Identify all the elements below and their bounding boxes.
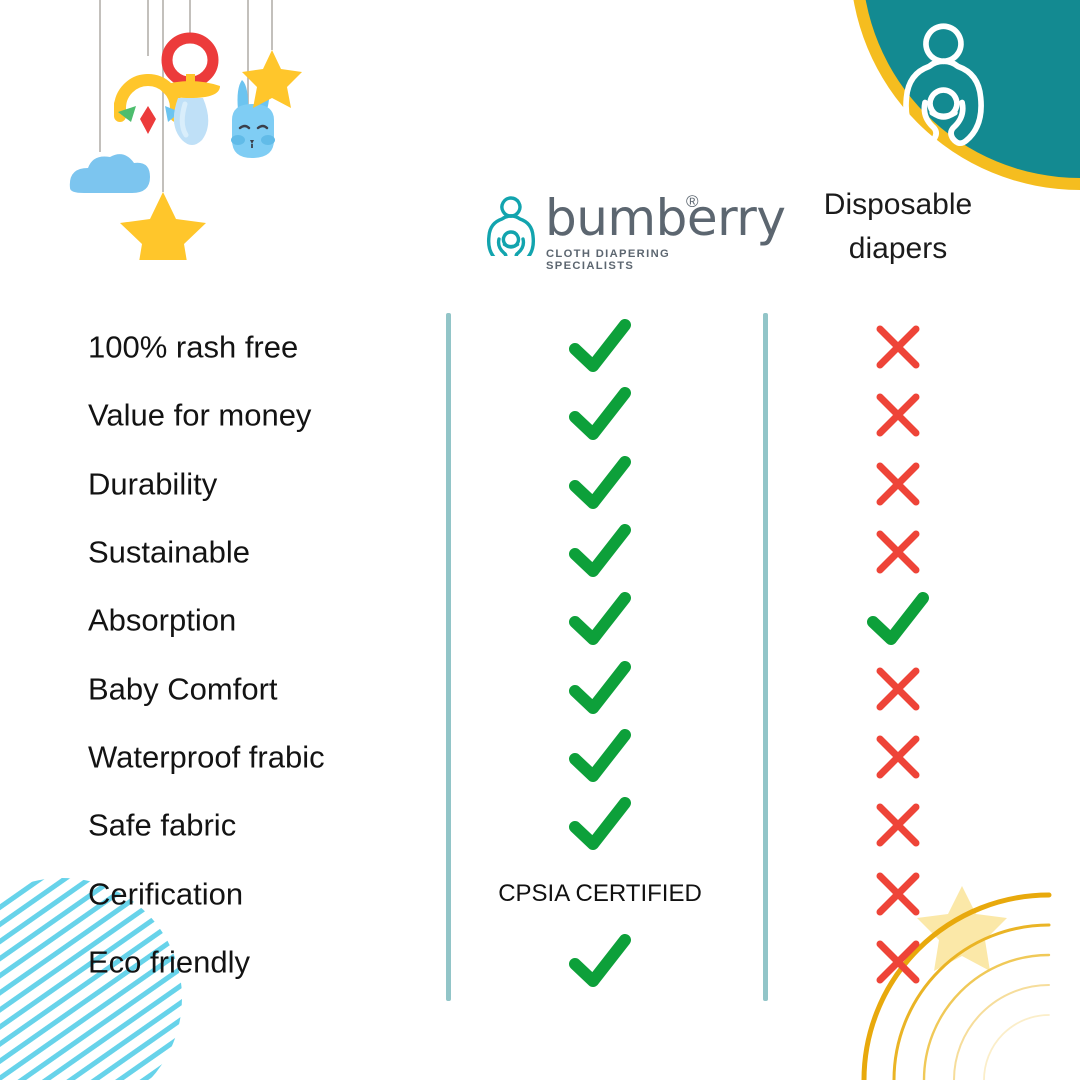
check-icon — [569, 592, 631, 648]
check-icon — [569, 456, 631, 512]
cell-disposable — [838, 937, 958, 987]
table-row: Durability — [0, 450, 1080, 518]
table-row: Sustainable — [0, 518, 1080, 586]
cell-disposable — [838, 800, 958, 850]
cell-disposable — [838, 322, 958, 372]
rattle-ring-toy — [118, 80, 180, 134]
certification-value: CPSIA CERTIFIED — [440, 880, 760, 908]
logo-registered-mark: ® — [686, 192, 699, 212]
comparison-table: 100% rash freeValue for moneyDurabilityS… — [0, 313, 1080, 996]
table-row: 100% rash free — [0, 313, 1080, 381]
cell-bumberry — [540, 319, 660, 375]
feature-label: Cerification — [88, 878, 243, 909]
table-row: CerificationCPSIA CERTIFIED — [0, 859, 1080, 927]
cell-disposable — [838, 459, 958, 509]
cell-bumberry — [540, 934, 660, 990]
logo-wordmark: bumberry — [545, 186, 785, 250]
table-row: Safe fabric — [0, 791, 1080, 859]
table-header: bumberry ® CLOTH DIAPERING SPECIALISTS D… — [0, 186, 1080, 296]
cell-bumberry — [540, 592, 660, 648]
feature-label: Eco friendly — [88, 946, 250, 977]
cell-disposable — [838, 527, 958, 577]
feature-label: Baby Comfort — [88, 673, 278, 704]
table-row: Value for money — [0, 381, 1080, 449]
feature-label: Value for money — [88, 400, 311, 431]
cell-disposable — [838, 592, 958, 648]
cell-disposable — [838, 869, 958, 919]
column-header-disposable: Disposable diapers — [782, 183, 1014, 271]
logo-tagline: CLOTH DIAPERING SPECIALISTS — [546, 248, 733, 272]
cell-disposable — [838, 732, 958, 782]
cell-bumberry — [540, 524, 660, 580]
feature-label: Sustainable — [88, 537, 250, 568]
check-icon — [569, 729, 631, 785]
check-icon — [569, 524, 631, 580]
cross-icon — [873, 800, 923, 850]
mother-and-baby-icon — [906, 26, 981, 143]
table-row: Eco friendly — [0, 928, 1080, 996]
cross-icon — [873, 390, 923, 440]
cross-icon — [873, 937, 923, 987]
cross-icon — [873, 459, 923, 509]
check-icon — [569, 797, 631, 853]
comparison-infographic: bumberry ® CLOTH DIAPERING SPECIALISTS D… — [0, 0, 1080, 1080]
check-icon — [569, 319, 631, 375]
check-icon — [569, 387, 631, 443]
bumberry-logo[interactable]: bumberry ® CLOTH DIAPERING SPECIALISTS — [483, 186, 733, 278]
cross-icon — [873, 732, 923, 782]
check-icon — [569, 934, 631, 990]
column-header-disposable-line1: Disposable — [782, 183, 1014, 227]
cell-bumberry — [540, 456, 660, 512]
feature-label: Waterproof frabic — [88, 741, 325, 772]
table-row: Waterproof frabic — [0, 723, 1080, 791]
cell-bumberry — [540, 729, 660, 785]
table-row: Absorption — [0, 586, 1080, 654]
cell-bumberry — [540, 661, 660, 717]
cell-disposable — [838, 390, 958, 440]
bunny-head — [231, 80, 275, 158]
cross-icon — [873, 664, 923, 714]
mother-and-baby-icon — [483, 194, 539, 256]
feature-label: Durability — [88, 468, 217, 499]
feature-label: 100% rash free — [88, 332, 298, 363]
check-icon — [867, 592, 929, 648]
cross-icon — [873, 869, 923, 919]
star-small — [242, 50, 302, 108]
check-icon — [569, 661, 631, 717]
cell-bumberry — [540, 797, 660, 853]
feature-label: Absorption — [88, 605, 236, 636]
table-row: Baby Comfort — [0, 654, 1080, 722]
column-header-disposable-line2: diapers — [782, 227, 1014, 271]
pacifier — [160, 38, 220, 145]
cross-icon — [873, 527, 923, 577]
feature-label: Safe fabric — [88, 810, 236, 841]
cross-icon — [873, 322, 923, 372]
cell-bumberry — [540, 387, 660, 443]
cell-disposable — [838, 664, 958, 714]
